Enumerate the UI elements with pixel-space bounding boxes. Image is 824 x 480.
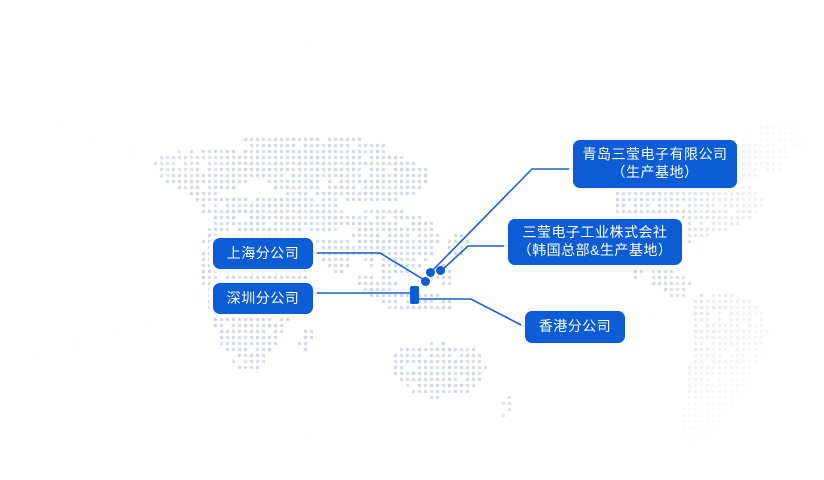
label-shanghai[interactable]: 上海分公司 (213, 238, 313, 269)
label-korea-line2: （韩国总部&生产基地） (518, 242, 673, 260)
marker-hongkong[interactable] (410, 293, 419, 304)
marker-qingdao[interactable] (426, 268, 435, 277)
connector-shanghai (313, 253, 426, 281)
label-shenzhen[interactable]: 深圳分公司 (213, 283, 313, 314)
label-qingdao[interactable]: 青岛三莹电子有限公司 （生产基地） (573, 140, 737, 188)
label-shanghai-line1: 上海分公司 (227, 245, 300, 263)
label-hongkong[interactable]: 香港分公司 (525, 311, 625, 343)
world-map-infographic: 青岛三莹电子有限公司 （生产基地） 三莹电子工业株式会社 （韩国总部&生产基地）… (0, 0, 824, 480)
connector-hongkong (416, 299, 525, 327)
label-hongkong-line1: 香港分公司 (539, 318, 612, 336)
label-korea[interactable]: 三莹电子工业株式会社 （韩国总部&生产基地） (508, 219, 682, 265)
marker-shanghai[interactable] (421, 277, 430, 286)
label-qingdao-line1: 青岛三莹电子有限公司 (583, 146, 728, 164)
label-qingdao-line2: （生产基地） (612, 164, 699, 182)
label-shenzhen-line1: 深圳分公司 (227, 290, 300, 308)
connector-lines (0, 0, 824, 480)
label-korea-line1: 三莹电子工业株式会社 (523, 224, 668, 242)
connector-korea (441, 246, 508, 271)
marker-korea[interactable] (436, 266, 445, 275)
